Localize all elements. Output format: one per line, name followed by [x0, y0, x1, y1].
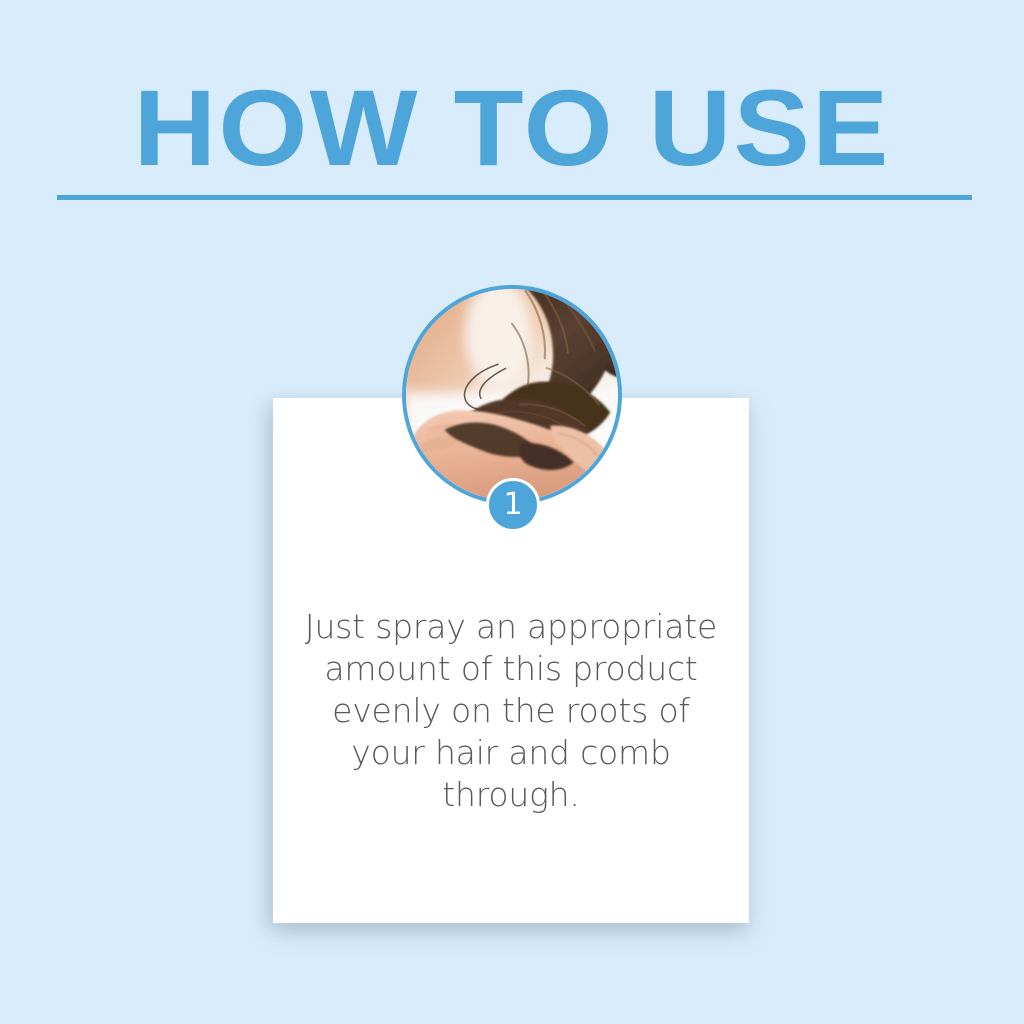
header: HOW TO USE: [0, 0, 1024, 220]
photo-circle-frame: [402, 285, 622, 505]
title-divider: [57, 195, 972, 200]
step-photo: [402, 285, 622, 505]
page-title: HOW TO USE: [0, 72, 1024, 184]
step-number-badge: 1: [486, 478, 540, 532]
how-to-use-infographic: HOW TO USE Just spray an appropriate amo…: [0, 0, 1024, 1024]
step-description: Just spray an appropriate amount of this…: [301, 606, 721, 816]
hand-holding-wet-hair-icon: [406, 289, 618, 501]
